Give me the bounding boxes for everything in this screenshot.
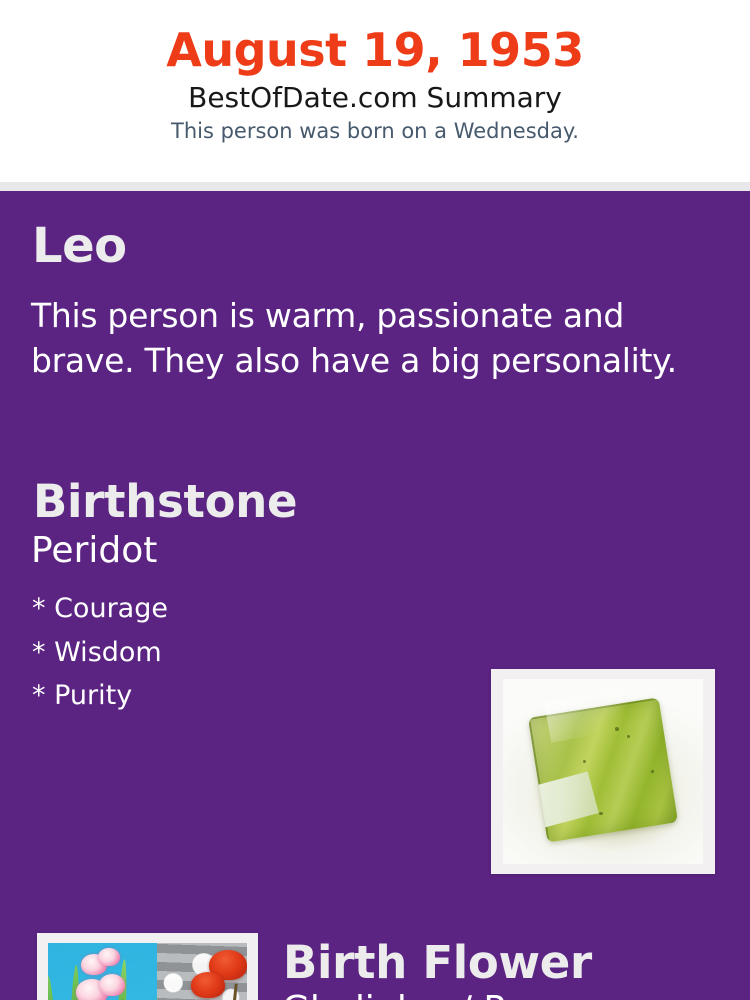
birthstone-name: Peridot: [31, 533, 157, 569]
header-divider: [0, 182, 750, 191]
gem-inclusion: [627, 735, 630, 738]
list-item: * Courage: [32, 587, 168, 631]
birthstone-title: Birthstone: [33, 479, 297, 524]
gladiolus-photo-half: [48, 943, 157, 1000]
birth-flower-title: Birth Flower: [283, 940, 592, 985]
birthstone-image-frame: [491, 669, 715, 874]
gladiolus-and-poppy-image: [48, 943, 247, 1000]
details-panel: Leo This person is warm, passionate and …: [0, 191, 750, 1000]
birth-flower-name: Gladiolus / Poppy: [282, 992, 593, 1000]
page-title-date: August 19, 1953: [0, 26, 750, 74]
born-day-note: This person was born on a Wednesday.: [0, 120, 750, 143]
site-summary-label: BestOfDate.com Summary: [0, 83, 750, 114]
list-item: * Wisdom: [32, 631, 168, 675]
header: August 19, 1953 BestOfDate.com Summary T…: [0, 0, 750, 182]
zodiac-description: This person is warm, passionate and brav…: [31, 294, 691, 383]
birth-flower-image-frame: [37, 933, 258, 1000]
peridot-gemstone-image: [503, 679, 703, 864]
birthstone-trait-list: * Courage * Wisdom * Purity: [32, 587, 168, 718]
zodiac-sign-title: Leo: [32, 222, 127, 270]
list-item: * Purity: [32, 674, 168, 718]
gem-inclusion: [651, 770, 654, 773]
summary-card: August 19, 1953 BestOfDate.com Summary T…: [0, 0, 750, 1000]
poppy-photo-half: [157, 943, 247, 1000]
